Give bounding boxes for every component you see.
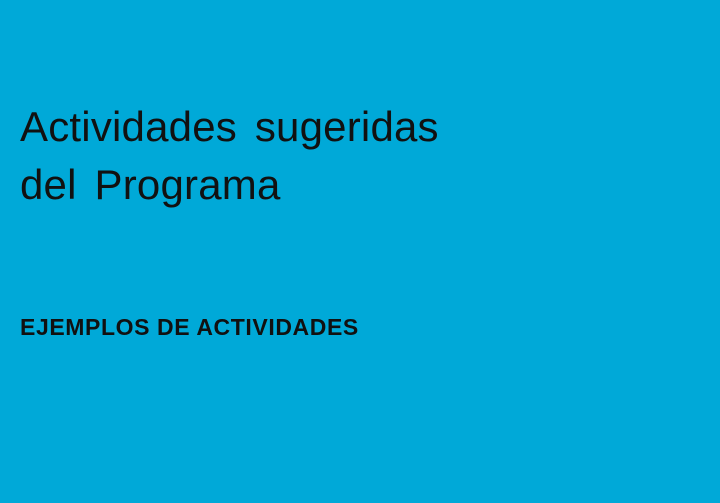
slide-body-text: EJEMPLOS DE ACTIVIDADES [20,312,660,342]
body-line: EJEMPLOS DE ACTIVIDADES [20,312,660,342]
slide-title: Actividades sugeridas del Programa [20,98,660,214]
presentation-slide: Actividades sugeridas del Programa EJEMP… [0,0,720,503]
